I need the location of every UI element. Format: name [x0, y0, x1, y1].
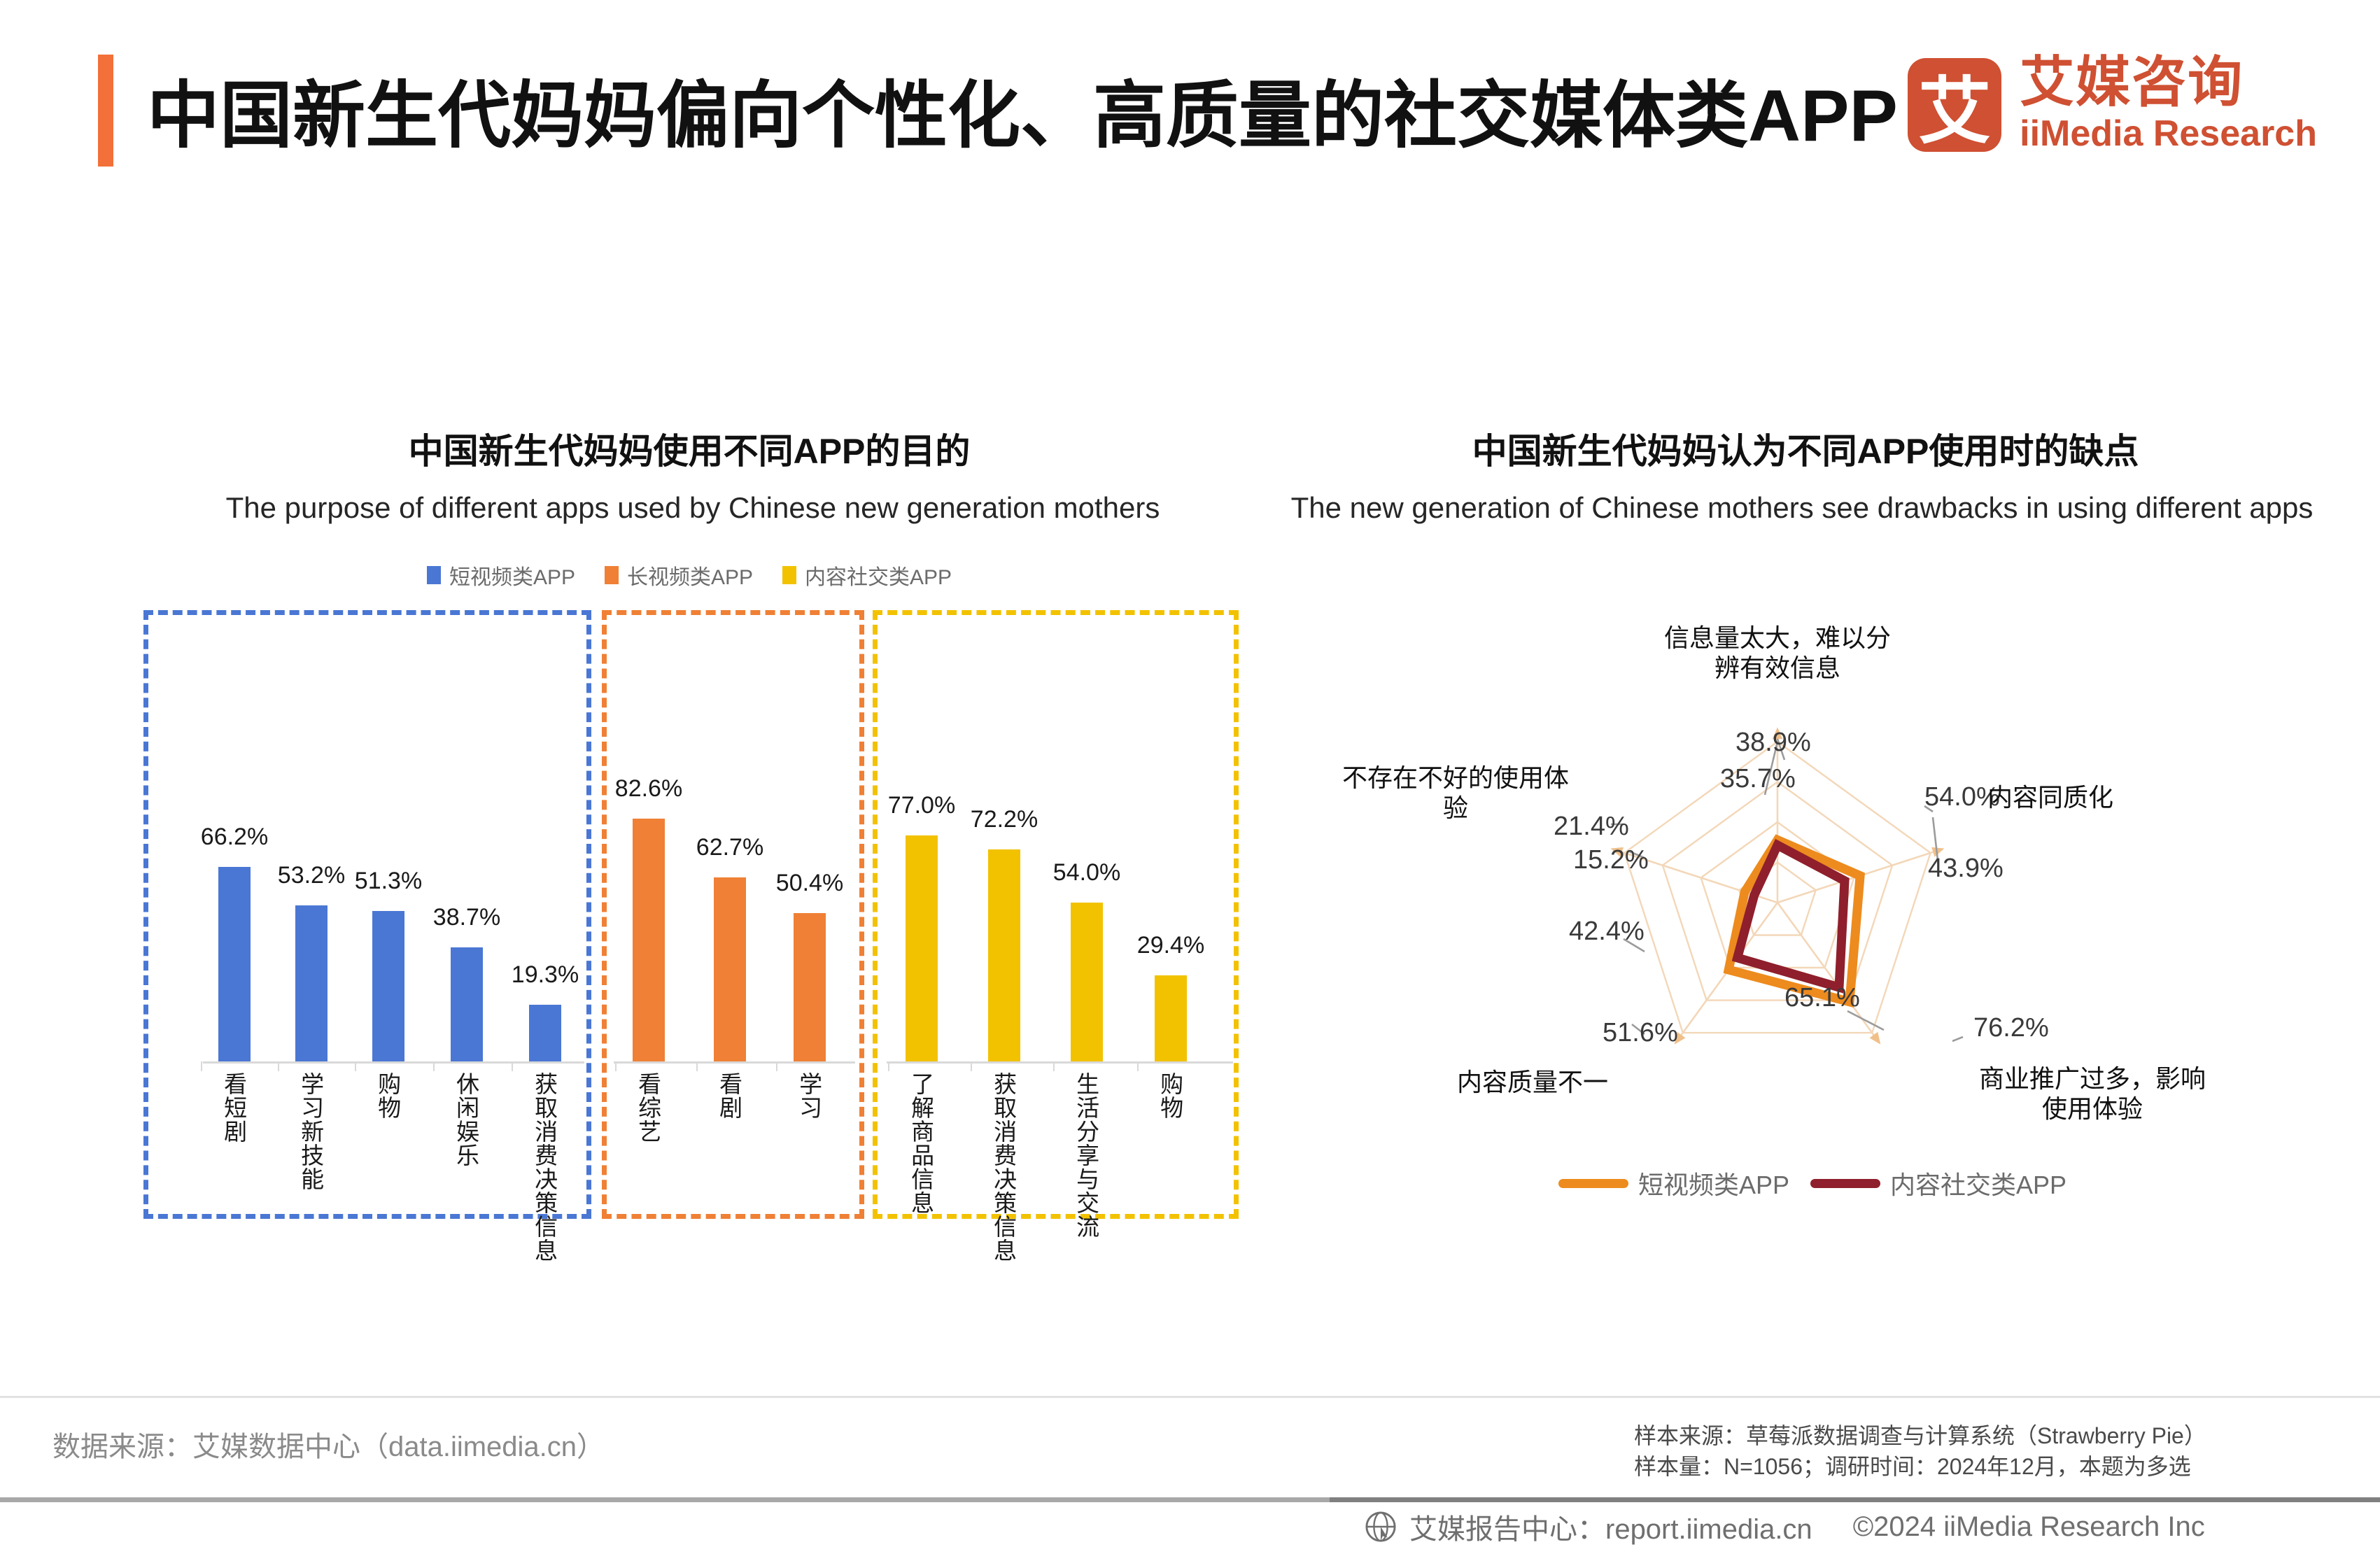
page-title: 中国新生代妈妈偏向个性化、高质量的社交媒体类APP [147, 56, 1898, 162]
radar-axis-label: 内容质量不一 [1386, 1067, 1680, 1097]
bar-column [906, 835, 938, 1061]
legend-swatch-blue [427, 566, 441, 584]
radar-value-label: 76.2% [1973, 1013, 2049, 1043]
right-chart-title: 中国新生代妈妈认为不同APP使用时的缺点 [1298, 423, 2313, 474]
axis-tick [433, 1061, 435, 1071]
copyright-text: ©2024 iiMedia Research Inc [1853, 1511, 2205, 1543]
bar-category-label: 获取消费决策信息 [992, 1072, 1015, 1262]
sample-size-line: 样本量：N=1056；调研时间：2024年12月，本题为多选 [1634, 1454, 2191, 1479]
legend-label-content-social: 内容社交类APP [805, 560, 952, 591]
axis-tick [512, 1061, 513, 1071]
axis-tick [355, 1061, 356, 1071]
bar-column [988, 849, 1020, 1061]
bar-value-label: 54.0% [1053, 859, 1120, 886]
bar-column [794, 913, 826, 1061]
radar-legend-item-content-social[interactable]: 内容社交类APP [1810, 1165, 2066, 1201]
bar-column [1071, 903, 1103, 1061]
radar-value-label: 51.6% [1603, 1018, 1678, 1048]
page-header: 中国新生代妈妈偏向个性化、高质量的社交媒体类APP 艾 艾媒咨询 iiMedia… [0, 0, 2380, 196]
bar-category-label: 生活分享与交流 [1074, 1072, 1098, 1238]
bar-group-box-short-video [143, 610, 591, 1219]
bar-column [529, 1005, 561, 1061]
bar-value-label: 29.4% [1137, 932, 1204, 959]
logo-chinese-name: 艾媒咨询 [2020, 55, 2317, 109]
bar-category-label: 看综艺 [636, 1072, 660, 1143]
radar-value-label: 43.9% [1928, 854, 2004, 884]
bar-value-label: 72.2% [971, 806, 1038, 833]
bar-column [451, 947, 483, 1061]
radar-axis-label: 不存在不好的使用体 验 [1309, 763, 1603, 823]
bar-value-label: 51.3% [355, 868, 422, 895]
bar-category-label: 购物 [1158, 1072, 1182, 1119]
bar-column [633, 819, 665, 1061]
bar-column [295, 905, 328, 1061]
bar-category-label: 获取消费决策信息 [533, 1072, 556, 1262]
footer-divider [0, 1396, 2380, 1398]
legend-item-short-video[interactable]: 短视频类APP [427, 560, 575, 591]
legend-swatch-orange [605, 566, 619, 584]
sample-info-note: 样本来源：草莓派数据调查与计算系统（Strawberry Pie） 样本量：N=… [1634, 1420, 2206, 1482]
radar-legend-item-short-video[interactable]: 短视频类APP [1558, 1165, 1789, 1201]
axis-tick [776, 1061, 777, 1071]
bar-category-label: 学习新技能 [299, 1072, 323, 1191]
legend-swatch-yellow [782, 566, 796, 584]
legend-item-long-video[interactable]: 长视频类APP [605, 560, 753, 591]
radar-value-label: 38.9% [1735, 728, 1811, 758]
bar-category-label: 学习 [797, 1072, 821, 1119]
bar-chart: 66.2%看短剧53.2%学习新技能51.3%购物38.7%休闲娱乐19.3%获… [143, 610, 1239, 1219]
axis-line-content-social [887, 1061, 1233, 1064]
radar-value-label: 15.2% [1573, 845, 1649, 875]
logo-english-name: iiMedia Research [2020, 113, 2317, 155]
bar-value-label: 82.6% [615, 775, 682, 803]
radar-value-label: 65.1% [1784, 983, 1860, 1013]
globe-icon [1365, 1511, 1397, 1543]
legend-item-content-social[interactable]: 内容社交类APP [782, 560, 952, 591]
radar-legend-label-short-video: 短视频类APP [1638, 1165, 1789, 1201]
radar-value-label: 42.4% [1569, 917, 1645, 947]
radar-axis-label: 信息量太大，难以分 辨有效信息 [1631, 623, 1924, 683]
axis-tick [696, 1061, 698, 1071]
radar-axis-label: 商业推广过多，影响 使用体验 [1945, 1064, 2239, 1124]
axis-tick [971, 1061, 972, 1071]
logo-glyph: 艾 [1908, 58, 2001, 152]
left-chart-subtitle: The purpose of different apps used by Ch… [84, 490, 1302, 525]
bar-chart-legend: 短视频类APP 长视频类APP 内容社交类APP [126, 560, 1253, 591]
bar-value-label: 77.0% [888, 792, 955, 819]
title-accent-bar [98, 55, 113, 167]
logo-mark-icon: 艾 [1908, 58, 2001, 152]
axis-tick [1053, 1061, 1055, 1071]
radar-legend-line-orange [1558, 1179, 1628, 1188]
bar-category-label: 看剧 [717, 1072, 741, 1119]
iimedia-logo: 艾 艾媒咨询 iiMedia Research [1908, 55, 2317, 155]
legend-label-long-video: 长视频类APP [627, 560, 753, 591]
right-chart-subtitle: The new generation of Chinese mothers se… [1242, 490, 2362, 525]
axis-tick [615, 1061, 617, 1071]
bar-value-label: 62.7% [696, 834, 763, 861]
bar-value-label: 19.3% [512, 961, 579, 989]
radar-legend-line-darkred [1810, 1179, 1880, 1188]
legend-label-short-video: 短视频类APP [449, 560, 575, 591]
report-center-text: 艾媒报告中心：report.iimedia.cn [1409, 1506, 1812, 1547]
radar-axis-label: 内容同质化 [1987, 782, 2218, 812]
axis-tick [201, 1061, 202, 1071]
bar-category-label: 看短剧 [222, 1072, 246, 1143]
axis-tick [888, 1061, 889, 1071]
bar-value-label: 50.4% [776, 870, 843, 897]
axis-line-long-video [614, 1061, 855, 1064]
axis-line-short-video [203, 1061, 584, 1064]
axis-tick [1137, 1061, 1139, 1071]
radar-chart: 38.9%54.0%76.2%51.6%21.4%35.7%43.9%65.1%… [1295, 602, 2330, 1161]
radar-chart-legend: 短视频类APP 内容社交类APP [1295, 1165, 2330, 1201]
bar-value-label: 53.2% [278, 862, 345, 889]
radar-legend-label-content-social: 内容社交类APP [1890, 1165, 2066, 1201]
bar-column [714, 877, 746, 1061]
footer-content: 艾媒报告中心：report.iimedia.cn ©2024 iiMedia R… [1365, 1506, 2205, 1547]
left-chart-title: 中国新生代妈妈使用不同APP的目的 [126, 423, 1253, 474]
radar-leader-line [1952, 1037, 1963, 1041]
bar-category-label: 购物 [376, 1072, 400, 1119]
bar-column [1155, 975, 1187, 1061]
sample-source-line: 样本来源：草莓派数据调查与计算系统（Strawberry Pie） [1634, 1423, 2206, 1448]
bar-value-label: 66.2% [201, 824, 268, 851]
bar-value-label: 38.7% [433, 904, 500, 931]
bar-column [372, 911, 404, 1061]
axis-tick [278, 1061, 279, 1071]
logo-wordmark: 艾媒咨询 iiMedia Research [2020, 55, 2317, 155]
data-source-note: 数据来源：艾媒数据中心（data.iimedia.cn） [52, 1424, 605, 1464]
bar-category-label: 休闲娱乐 [454, 1072, 478, 1167]
bar-category-label: 了解商品信息 [909, 1072, 933, 1215]
radar-value-label: 35.7% [1720, 764, 1796, 794]
bar-column [218, 867, 251, 1061]
